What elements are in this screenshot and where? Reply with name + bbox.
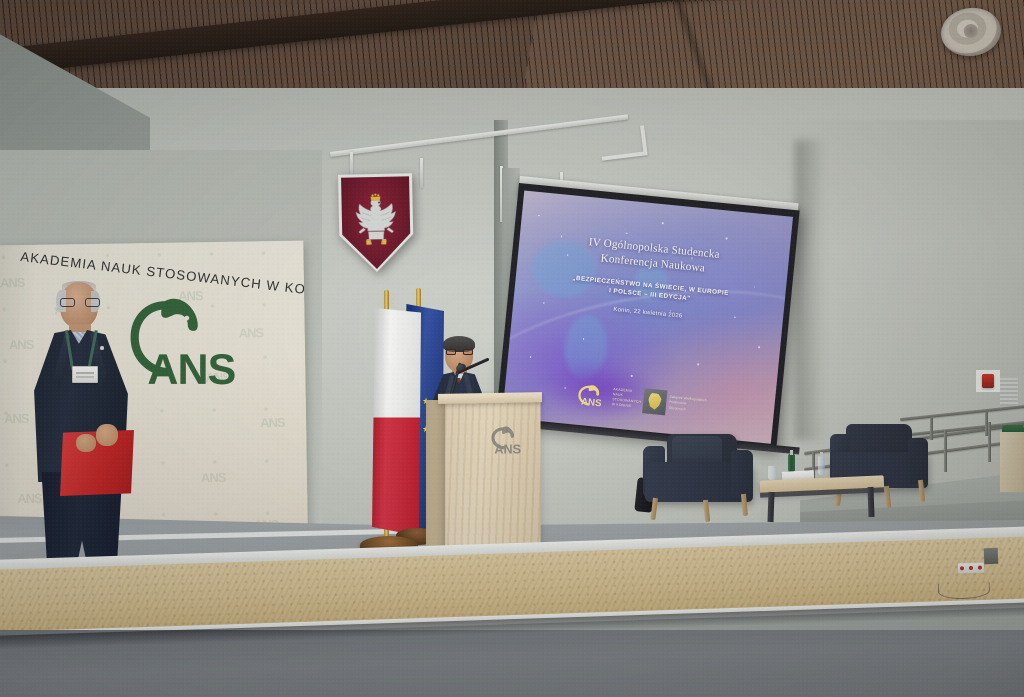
ans-horse-logo-gold-icon: ANS [571,376,614,414]
waste-bin [1000,432,1024,492]
green-bottle [788,454,795,473]
svg-text:ANS: ANS [147,346,235,394]
ramp-post-4 [944,430,947,472]
armchair-left-leg-2 [703,500,710,522]
armchair-right-leg-2 [884,486,891,508]
attendee-lapel-pin [100,346,104,350]
coffee-table-leg-2 [867,487,874,517]
podium-lectern [445,397,540,555]
power-outlet-strip[interactable] [958,563,984,574]
slide-ans-logo-subtext: AKADEMIA NAUK STOSOWANYCH W KONINIE [612,387,643,410]
svg-text:ANS: ANS [494,442,521,456]
conference-hall-photograph: ANS ANS ANS ANS ANS ANS ANS ANS ANS ANS … [0,0,1024,697]
ramp-post-5 [988,422,991,462]
rail-wall-bracket [598,125,647,160]
attendee-glasses-icon [60,298,100,307]
armchair-left[interactable] [645,440,753,512]
attendee-name-badge [72,366,98,383]
projection-screen: IV Ogólnopolska Studencka Konferencja Na… [496,183,800,449]
region-map-icon [648,392,663,410]
projected-slide: IV Ogólnopolska Studencka Konferencja Na… [502,191,793,444]
podium-left-side [426,400,446,548]
podium-top-surface [438,392,542,404]
water-bottle [818,456,825,475]
drinking-glass [768,466,777,480]
slide-partner-logo: Związek Wielkopolskich Podmiotów Obronny… [642,388,707,419]
rail-dropper-1 [350,152,353,176]
wall-vent-grille [1000,378,1018,406]
attendee-hand-left [76,434,96,452]
coffee-table-leg-1 [767,492,774,522]
armchair-right-arm-far [908,438,928,484]
podium-ans-logo-icon: ANS [486,423,528,457]
slide-ans-logo: ANS AKADEMIA NAUK STOSOWANYCH W KONINIE [571,376,632,415]
partner-logo-badge [642,388,667,415]
attendee-hand-right [96,424,118,446]
poland-flag [371,308,421,536]
outlet-junction-box [984,548,999,564]
rail-dropper-2 [420,158,423,188]
polish-coat-of-arms-emblem [338,173,414,273]
partner-logo-text: Związek Wielkopolskich Podmiotów Obronny… [668,395,706,415]
ramp-post-6 [930,418,933,440]
white-eagle-icon [346,188,405,249]
svg-text:ANS: ANS [581,396,603,409]
armchair-left-arm-far [731,450,753,498]
ramp-post-7 [985,412,988,436]
wall-recess-shadow [795,140,825,440]
speaker-glasses-icon [446,349,473,355]
fire-alarm-icon[interactable] [982,374,994,388]
